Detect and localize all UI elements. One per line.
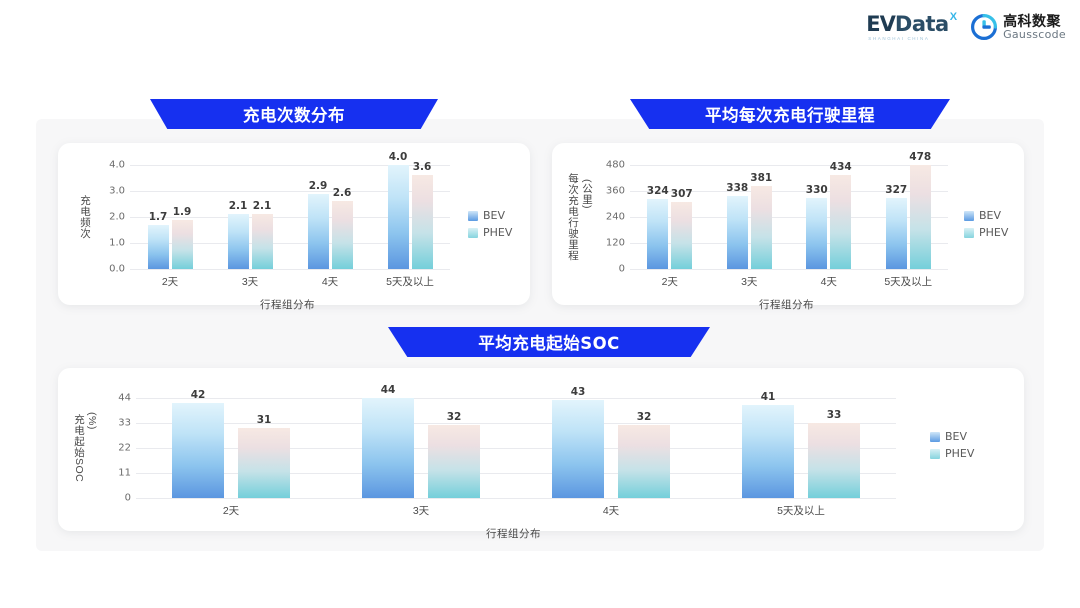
bar-value-label: 478: [909, 151, 931, 163]
x-axis-tick: 4天: [603, 503, 619, 518]
gausscode-text: 高科数聚 Gausscode: [1003, 14, 1066, 40]
chart-charging-frequency: 充电频次行程组分布0.01.02.03.04.01.71.92天2.12.13天…: [58, 143, 530, 305]
legend-label: BEV: [979, 209, 1001, 222]
bar-value-label: 33: [827, 409, 842, 421]
x-axis-label: 行程组分布: [486, 526, 541, 541]
legend-swatch-bev: [468, 211, 478, 221]
bar-bev: 338: [727, 196, 748, 269]
x-axis-tick: 3天: [242, 274, 258, 289]
evdata-logo: EV Data X SHANGHAI CHINA: [866, 14, 957, 41]
legend-label: PHEV: [945, 447, 974, 460]
evdata-data-text: Data: [895, 14, 949, 34]
x-axis-tick: 3天: [741, 274, 757, 289]
legend-swatch-bev: [930, 432, 940, 442]
bar-phev: 381: [751, 186, 772, 269]
x-axis-tick: 5天及以上: [884, 274, 932, 289]
bar-bev: 330: [806, 198, 827, 270]
chart-mileage-per-charge: 每次充电行驶里程(公里)行程组分布01202403604803243072天33…: [552, 143, 1024, 305]
logo-group: EV Data X SHANGHAI CHINA 高科数聚 Gausscode: [866, 14, 1066, 41]
x-axis-label: 行程组分布: [759, 297, 814, 312]
bar-bev: 327: [886, 198, 907, 269]
bar-phev: 33: [808, 423, 860, 498]
legend-label: PHEV: [483, 226, 512, 239]
legend-item-bev[interactable]: BEV: [468, 209, 512, 222]
bar-bev: 1.7: [148, 225, 169, 269]
chart-legend: BEVPHEV: [964, 209, 1008, 239]
y-axis-tick: 4.0: [109, 160, 125, 171]
y-axis-tick: 33: [118, 418, 131, 429]
bar-bev: 43: [552, 400, 604, 498]
chart-legend: BEVPHEV: [930, 430, 974, 460]
y-axis-tick: 360: [606, 186, 625, 197]
bar-phev: 478: [910, 165, 931, 269]
legend-label: PHEV: [979, 226, 1008, 239]
bar-phev: 1.9: [172, 220, 193, 269]
gausscode-name-cn: 高科数聚: [1003, 14, 1066, 29]
bar-phev: 2.6: [332, 201, 353, 269]
bar-value-label: 44: [381, 384, 396, 396]
y-axis-label: 充电频次: [78, 161, 93, 273]
y-axis-tick: 2.0: [109, 212, 125, 223]
bar-phev: 307: [671, 202, 692, 269]
y-axis-tick: 11: [118, 468, 131, 479]
chart-title-text: 平均每次充电行驶里程: [705, 102, 875, 126]
legend-label: BEV: [945, 430, 967, 443]
evdata-x-icon: X: [950, 11, 957, 23]
legend-item-phev[interactable]: PHEV: [468, 226, 512, 239]
legend-item-bev[interactable]: BEV: [930, 430, 974, 443]
evdata-ev-text: EV: [866, 14, 895, 34]
bar-phev: 32: [618, 425, 670, 498]
bar-value-label: 1.9: [173, 206, 192, 218]
x-axis-tick: 3天: [413, 503, 429, 518]
plot-area: 01122334442312天44323天43324天41335天及以上: [136, 398, 896, 498]
legend-swatch-bev: [964, 211, 974, 221]
evdata-wordmark: EV Data X: [866, 14, 957, 34]
bar-phev: 434: [830, 175, 851, 269]
gausscode-name-en: Gausscode: [1003, 29, 1066, 41]
bar-phev: 2.1: [252, 214, 273, 269]
gridline: [130, 269, 450, 270]
legend-swatch-phev: [964, 228, 974, 238]
bar-value-label: 434: [830, 161, 852, 173]
y-axis-label-unit: (公里): [580, 179, 595, 209]
y-axis-tick: 0: [619, 264, 625, 275]
plot-area: 0.01.02.03.04.01.71.92天2.12.13天2.92.64天4…: [130, 165, 450, 269]
bar-bev: 4.0: [388, 165, 409, 269]
y-axis-label: 每次充电行驶里程: [566, 161, 581, 273]
bar-value-label: 330: [806, 184, 828, 196]
bar-bev: 2.1: [228, 214, 249, 269]
x-axis-tick: 2天: [162, 274, 178, 289]
chart-title-banner-mileage-per-charge: 平均每次充电行驶里程: [630, 99, 950, 129]
y-axis-tick: 240: [606, 212, 625, 223]
y-axis-tick: 120: [606, 238, 625, 249]
legend-label: BEV: [483, 209, 505, 222]
chart-card-mileage-per-charge: 每次充电行驶里程(公里)行程组分布01202403604803243072天33…: [552, 143, 1024, 305]
x-axis-tick: 4天: [821, 274, 837, 289]
legend-item-phev[interactable]: PHEV: [930, 447, 974, 460]
x-axis-tick: 5天及以上: [777, 503, 825, 518]
bar-bev: 2.9: [308, 194, 329, 269]
y-axis-tick: 0.0: [109, 264, 125, 275]
x-axis-tick: 5天及以上: [386, 274, 434, 289]
bar-value-label: 1.7: [149, 211, 168, 223]
gausscode-logo: 高科数聚 Gausscode: [971, 14, 1066, 40]
bar-phev: 31: [238, 428, 290, 498]
bar-value-label: 41: [761, 391, 776, 403]
chart-card-start-soc: 充电起始SOC(%)行程组分布01122334442312天44323天4332…: [58, 368, 1024, 531]
y-axis-tick: 3.0: [109, 186, 125, 197]
page-header: EV Data X SHANGHAI CHINA 高科数聚 Gausscode: [0, 0, 1080, 62]
bar-value-label: 2.6: [333, 187, 352, 199]
gausscode-mark-icon: [971, 14, 997, 40]
bar-value-label: 2.9: [309, 180, 328, 192]
y-axis-tick: 1.0: [109, 238, 125, 249]
chart-card-charging-frequency: 充电频次行程组分布0.01.02.03.04.01.71.92天2.12.13天…: [58, 143, 530, 305]
chart-start-soc: 充电起始SOC(%)行程组分布01122334442312天44323天4332…: [58, 368, 1024, 531]
bar-value-label: 31: [257, 414, 272, 426]
bar-value-label: 43: [571, 386, 586, 398]
bar-value-label: 338: [726, 182, 748, 194]
gridline: [630, 269, 948, 270]
y-axis-tick: 480: [606, 160, 625, 171]
y-axis-label-unit: (%): [86, 412, 98, 430]
bar-value-label: 381: [750, 172, 772, 184]
bar-value-label: 307: [671, 188, 693, 200]
y-axis-label: 充电起始SOC: [72, 394, 87, 502]
legend-swatch-phev: [468, 228, 478, 238]
chart-legend: BEVPHEV: [468, 209, 512, 239]
bar-value-label: 2.1: [229, 200, 248, 212]
bar-value-label: 324: [647, 185, 669, 197]
chart-title-banner-charging-frequency: 充电次数分布: [150, 99, 438, 129]
bar-value-label: 327: [885, 184, 907, 196]
plot-area: 01202403604803243072天3383813天3304344天327…: [630, 165, 948, 269]
bar-phev: 3.6: [412, 175, 433, 269]
bar-bev: 44: [362, 398, 414, 498]
bar-bev: 42: [172, 403, 224, 498]
x-axis-tick: 2天: [223, 503, 239, 518]
chart-title-text: 平均充电起始SOC: [478, 330, 620, 354]
bar-value-label: 4.0: [389, 151, 408, 163]
gridline: [136, 498, 896, 499]
legend-swatch-phev: [930, 449, 940, 459]
y-axis-tick: 0: [125, 493, 131, 504]
x-axis-tick: 4天: [322, 274, 338, 289]
bar-bev: 324: [647, 199, 668, 269]
y-axis-tick: 44: [118, 393, 131, 404]
gridline: [630, 165, 948, 166]
chart-title-text: 充电次数分布: [243, 102, 345, 126]
bar-value-label: 32: [447, 411, 462, 423]
gridline: [136, 398, 896, 399]
x-axis-tick: 2天: [662, 274, 678, 289]
bar-phev: 32: [428, 425, 480, 498]
bar-value-label: 32: [637, 411, 652, 423]
legend-item-bev[interactable]: BEV: [964, 209, 1008, 222]
bar-bev: 41: [742, 405, 794, 498]
bar-value-label: 42: [191, 389, 206, 401]
bar-value-label: 3.6: [413, 161, 432, 173]
bar-value-label: 2.1: [253, 200, 272, 212]
evdata-tagline: SHANGHAI CHINA: [866, 36, 929, 41]
chart-title-banner-start-soc: 平均充电起始SOC: [388, 327, 710, 357]
legend-item-phev[interactable]: PHEV: [964, 226, 1008, 239]
x-axis-label: 行程组分布: [260, 297, 315, 312]
y-axis-tick: 22: [118, 443, 131, 454]
